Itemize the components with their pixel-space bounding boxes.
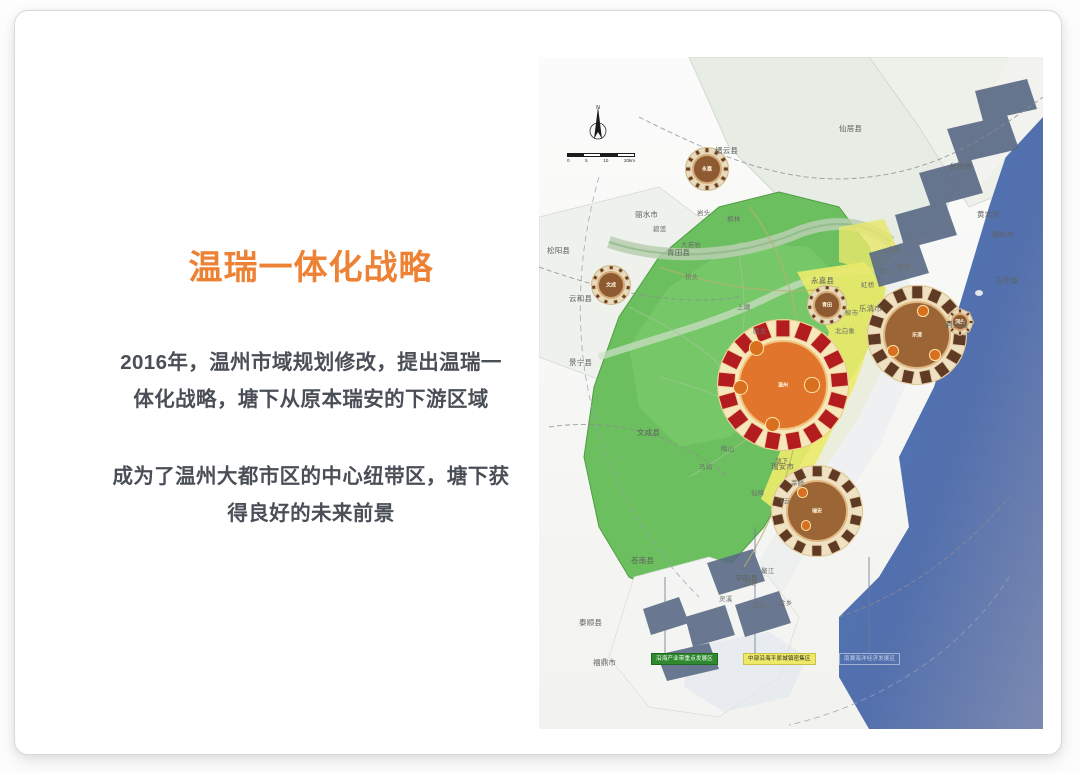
urban-cluster-southwest: 文成 bbox=[591, 265, 631, 305]
cluster-core bbox=[813, 291, 841, 319]
map-label-town: 北白象 bbox=[835, 325, 855, 335]
map-label-county: 洞头县 bbox=[945, 319, 968, 330]
scale-tick-0: 0 bbox=[567, 158, 570, 163]
legend-item-coastal-industry[interactable]: 沿海产业带重点发展区 bbox=[651, 653, 718, 665]
cluster-ring-tab bbox=[822, 349, 845, 371]
cluster-ring-tab bbox=[720, 175, 728, 182]
map-label-town: 马屿 bbox=[699, 461, 712, 471]
map-label-town: 飞云 bbox=[777, 495, 790, 505]
cluster-ring-tab bbox=[926, 287, 942, 304]
map-label-county: 丽水市 bbox=[635, 209, 658, 220]
map-label-county: 泰顺县 bbox=[579, 617, 602, 628]
cluster-ring-tab bbox=[958, 331, 962, 336]
cluster-core bbox=[692, 154, 722, 184]
cluster-ring-tab bbox=[792, 539, 807, 555]
map-label-county: 云和县 bbox=[569, 293, 592, 304]
scale-bar: 0 5 10 20km bbox=[567, 153, 635, 163]
cluster-ring-tab bbox=[830, 371, 849, 388]
cluster-ring-tab bbox=[817, 408, 840, 431]
north-arrow-icon: N bbox=[585, 105, 611, 147]
slide-root: 温瑞一体化战略 2016年，温州市域规划修改，提出温瑞一体化战略，塘下从原本瑞安… bbox=[0, 0, 1080, 773]
urban-cluster-main: 温州 bbox=[717, 319, 849, 451]
cluster-ring-tab bbox=[827, 467, 842, 483]
cluster-ring-tab bbox=[867, 333, 882, 346]
cluster-ring-tab bbox=[784, 431, 802, 451]
cluster-ring-tab bbox=[603, 298, 609, 304]
map-label-county: 文成县 bbox=[637, 427, 660, 438]
cluster-ring-tab bbox=[771, 513, 785, 526]
map-label-town: 瓯北 bbox=[753, 325, 766, 335]
urban-cluster-south: 瑞安 bbox=[771, 465, 863, 557]
scale-tick-3: 20km bbox=[624, 158, 635, 163]
cluster-ring-tab bbox=[827, 391, 848, 410]
scale-tick-1: 5 bbox=[585, 158, 588, 163]
cluster-node bbox=[797, 487, 808, 498]
legend-item-south-marine[interactable]: 南翼海洋经济发展区 bbox=[839, 653, 900, 665]
map-label-town: 枫林 bbox=[727, 213, 740, 223]
cluster-core bbox=[597, 271, 625, 299]
text-column: 温瑞一体化战略 2016年，温州市域规划修改，提出温瑞一体化战略，塘下从原本瑞安… bbox=[111, 247, 511, 533]
map-label-town: 莘塍 bbox=[791, 477, 804, 487]
map-label-county: 乐清市 bbox=[859, 303, 882, 314]
map-label-town: 碧莲 bbox=[653, 223, 666, 233]
cluster-ring-tab bbox=[911, 285, 923, 299]
urban-cluster-northeast: 乐清 bbox=[867, 285, 967, 385]
cluster-ring-tab bbox=[827, 539, 842, 555]
legend-item-central-plain[interactable]: 中部沿海平原城镇密集区 bbox=[743, 653, 816, 665]
cluster-ring-tab bbox=[775, 319, 790, 337]
map-label-town: 大荆 bbox=[887, 243, 900, 253]
cluster-ring-tab bbox=[742, 422, 764, 445]
map-label-town: 柳市 bbox=[845, 307, 858, 317]
cluster-core bbox=[786, 480, 848, 542]
cluster-ring-tab bbox=[919, 369, 933, 385]
cluster-ring-tab bbox=[934, 361, 951, 379]
scale-bar-ticks: 0 5 10 20km bbox=[567, 158, 635, 163]
cluster-ring-tab bbox=[868, 314, 884, 329]
map-label-county: 台州市 bbox=[949, 161, 972, 172]
slide-card: 温瑞一体化战略 2016年，温州市域规划修改，提出温瑞一体化战略，塘下从原本瑞安… bbox=[14, 10, 1062, 755]
map-label-town: 大若岩 bbox=[681, 239, 701, 249]
cluster-ring-tab bbox=[802, 422, 824, 445]
cluster-ring-tab bbox=[901, 369, 915, 385]
cluster-ring-tab bbox=[812, 544, 823, 556]
cluster-ring-tab bbox=[685, 166, 691, 171]
cluster-node bbox=[887, 345, 899, 357]
map-label-county: 缙云县 bbox=[715, 145, 738, 156]
map-label-county: 永嘉县 bbox=[811, 275, 834, 286]
cluster-ring-tab bbox=[721, 349, 744, 371]
map-label-county: 景宁县 bbox=[569, 357, 592, 368]
map-label-town: 灵溪 bbox=[719, 593, 732, 603]
map-label-county: 松阳县 bbox=[547, 245, 570, 256]
map-label-town: 清江 bbox=[879, 265, 892, 275]
map-label-town: 雁荡 bbox=[897, 261, 910, 271]
cluster-ring-tab bbox=[713, 182, 720, 190]
cluster-ring-tab bbox=[848, 496, 862, 509]
map-label-town: 上塘 bbox=[737, 301, 750, 311]
scale-tick-2: 10 bbox=[603, 158, 608, 163]
cluster-ring-tab bbox=[819, 318, 825, 324]
map-label-town: 桥头 bbox=[685, 271, 698, 281]
map-label-town: 塘下 bbox=[775, 455, 788, 465]
cluster-node bbox=[801, 520, 812, 531]
map-label-county: 玉环县 bbox=[995, 275, 1018, 286]
cluster-ring-tab bbox=[946, 348, 963, 365]
map-label-town: 龙港 bbox=[743, 577, 756, 587]
cluster-ring-tab bbox=[609, 265, 614, 270]
map-label-town: 陶山 bbox=[721, 443, 734, 453]
body-paragraph-1: 2016年，温州市域规划修改，提出温瑞一体化战略，塘下从原本瑞安的下游区域 bbox=[111, 344, 511, 419]
map-label-town: 鳌江 bbox=[761, 565, 774, 575]
map-label-county: 苍南县 bbox=[631, 555, 654, 566]
cluster-node bbox=[749, 340, 764, 355]
map-label-county: 福鼎市 bbox=[593, 657, 616, 668]
body-paragraph-2: 成为了温州大都市区的中心纽带区，塘下获得良好的未来前景 bbox=[111, 458, 511, 533]
urban-cluster-inland: 青田 bbox=[807, 285, 847, 325]
cluster-ring-tab bbox=[704, 185, 709, 191]
cluster-ring-tab bbox=[892, 287, 908, 304]
cluster-ring-tab bbox=[969, 320, 974, 324]
cluster-ring-tab bbox=[763, 431, 781, 451]
cluster-ring-tab bbox=[829, 318, 835, 324]
cluster-ring-tab bbox=[840, 528, 856, 544]
map-label-county: 温岭市 bbox=[991, 229, 1014, 240]
cluster-ring-tab bbox=[625, 285, 631, 290]
scale-bar-segments bbox=[567, 153, 635, 157]
cluster-node bbox=[804, 377, 819, 392]
map-label-county: 仙居县 bbox=[839, 123, 862, 134]
cluster-ring-tab bbox=[812, 465, 823, 477]
cluster-ring-tab bbox=[704, 147, 709, 153]
map-label-town: 金乡 bbox=[779, 597, 792, 607]
map-label-county: 黄岩区 bbox=[977, 209, 1000, 220]
cluster-ring-tab bbox=[723, 166, 729, 171]
cluster-node bbox=[917, 305, 929, 317]
cluster-ring-tab bbox=[840, 478, 856, 494]
map-label-town: 虹桥 bbox=[861, 279, 874, 289]
page-title: 温瑞一体化战略 bbox=[111, 247, 511, 290]
svg-text:N: N bbox=[596, 105, 600, 111]
cluster-ring-tab bbox=[848, 513, 862, 526]
map-label-town: 宜山 bbox=[753, 599, 766, 609]
map-label-town: 仙降 bbox=[751, 487, 764, 497]
map-label-town: 岩头 bbox=[697, 207, 710, 217]
cluster-node bbox=[929, 349, 941, 361]
regional-planning-map: N 0 5 10 20km bbox=[539, 57, 1043, 729]
cluster-ring-tab bbox=[613, 298, 619, 304]
